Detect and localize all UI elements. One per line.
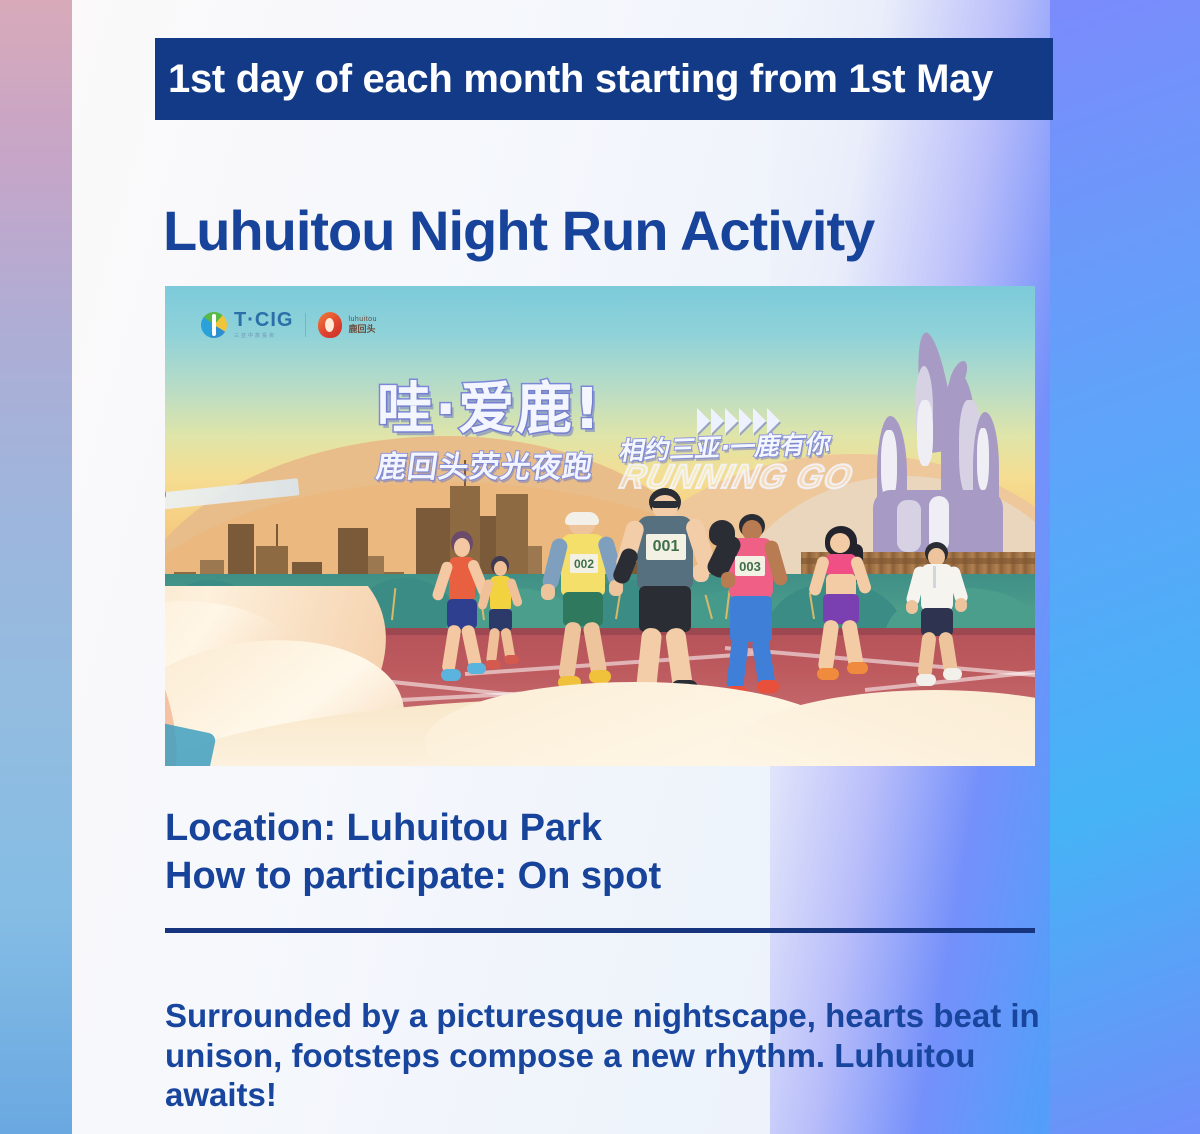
page-title: Luhuitou Night Run Activity <box>163 198 1043 263</box>
luhuitou-deer-mark-icon <box>318 312 342 338</box>
poster-logo-row: T·CIG 三亚中旅投资 luhuitou 鹿回头 <box>201 310 377 339</box>
luhuitou-logo-text-cn: 鹿回头 <box>348 325 377 334</box>
body-copy: Surrounded by a picturesque nightscape, … <box>165 996 1045 1115</box>
eyebrow-banner: 1st day of each month starting from 1st … <box>155 38 1053 120</box>
poster-headline-en: RUNNING GO <box>616 458 857 497</box>
poster-foreground-ribbons <box>165 586 1035 766</box>
poster-runner-bib: 002 <box>570 554 598 573</box>
tcig-logo-text: T·CIG <box>234 310 293 330</box>
section-divider <box>165 928 1035 933</box>
logo-divider <box>305 313 306 337</box>
details-block: Location: Luhuitou Park How to participa… <box>165 805 1045 901</box>
background-right-blue-edge <box>1050 0 1200 1134</box>
poster-image: 002 001 003 <box>165 286 1035 766</box>
tcig-mark-icon <box>201 312 227 338</box>
background-left-gradient-strip <box>0 0 72 1134</box>
tcig-logo-subtext: 三亚中旅投资 <box>234 332 293 339</box>
luhuitou-logo-text-en: luhuitou <box>348 316 377 323</box>
poster-runner-bib: 001 <box>646 534 686 560</box>
details-participation: How to participate: On spot <box>165 853 1045 901</box>
poster-deer-statue <box>855 304 1035 554</box>
details-location: Location: Luhuitou Park <box>165 805 1045 853</box>
tcig-logo: T·CIG 三亚中旅投资 <box>201 310 293 339</box>
poster-headline-block: 哇·爱鹿! 鹿回头荧光夜跑 相约三亚·一鹿有你 RUNNING GO <box>377 382 847 486</box>
eyebrow-banner-text: 1st day of each month starting from 1st … <box>155 57 993 102</box>
luhuitou-logo: luhuitou 鹿回头 <box>318 312 377 338</box>
poster-runner-bib: 003 <box>735 556 765 576</box>
